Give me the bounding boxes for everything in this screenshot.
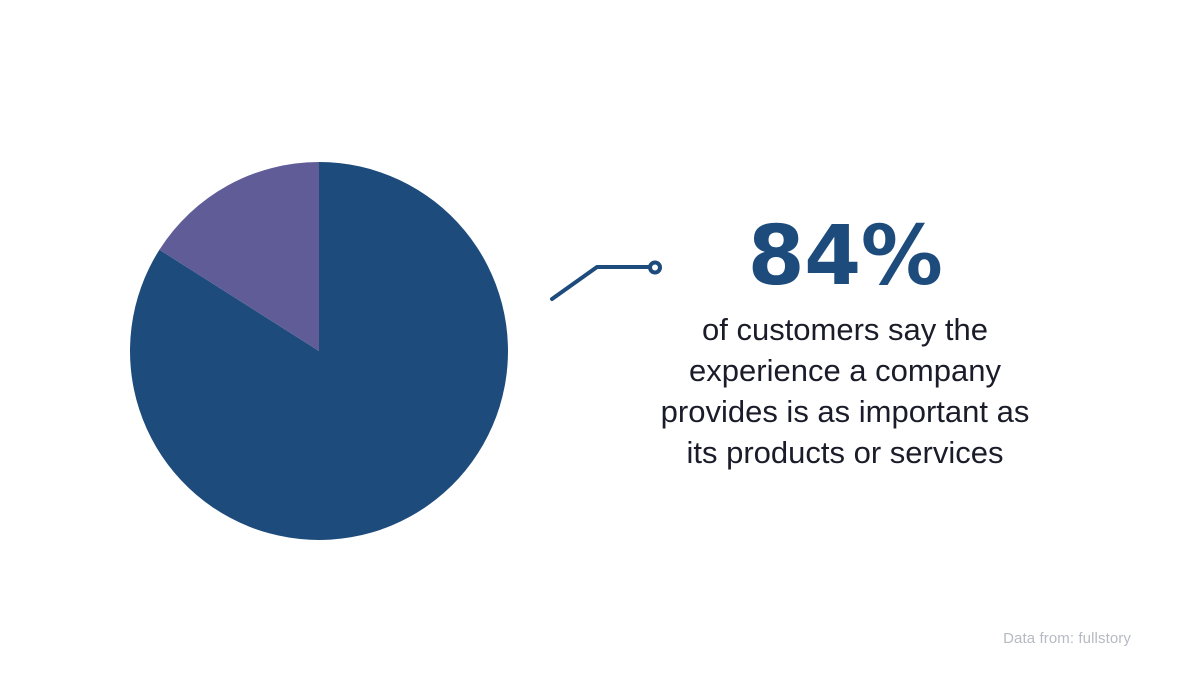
- infographic-canvas: 84% of customers say the experience a co…: [0, 0, 1200, 700]
- description-line-1: of customers say the: [600, 309, 1090, 350]
- source-attribution-label: Data from: fullstory: [1003, 630, 1131, 647]
- big-statistic-value: 84%: [600, 218, 1090, 297]
- pie-chart-svg: [0, 0, 560, 700]
- pie-chart-figure: [0, 0, 560, 700]
- description-line-3: provides is as important as: [600, 391, 1090, 432]
- statistic-annotation: 84% of customers say the experience a co…: [600, 218, 1090, 473]
- description-line-2: experience a company: [600, 350, 1090, 391]
- description-line-4: its products or services: [600, 432, 1090, 473]
- statistic-description: of customers say the experience a compan…: [600, 309, 1090, 473]
